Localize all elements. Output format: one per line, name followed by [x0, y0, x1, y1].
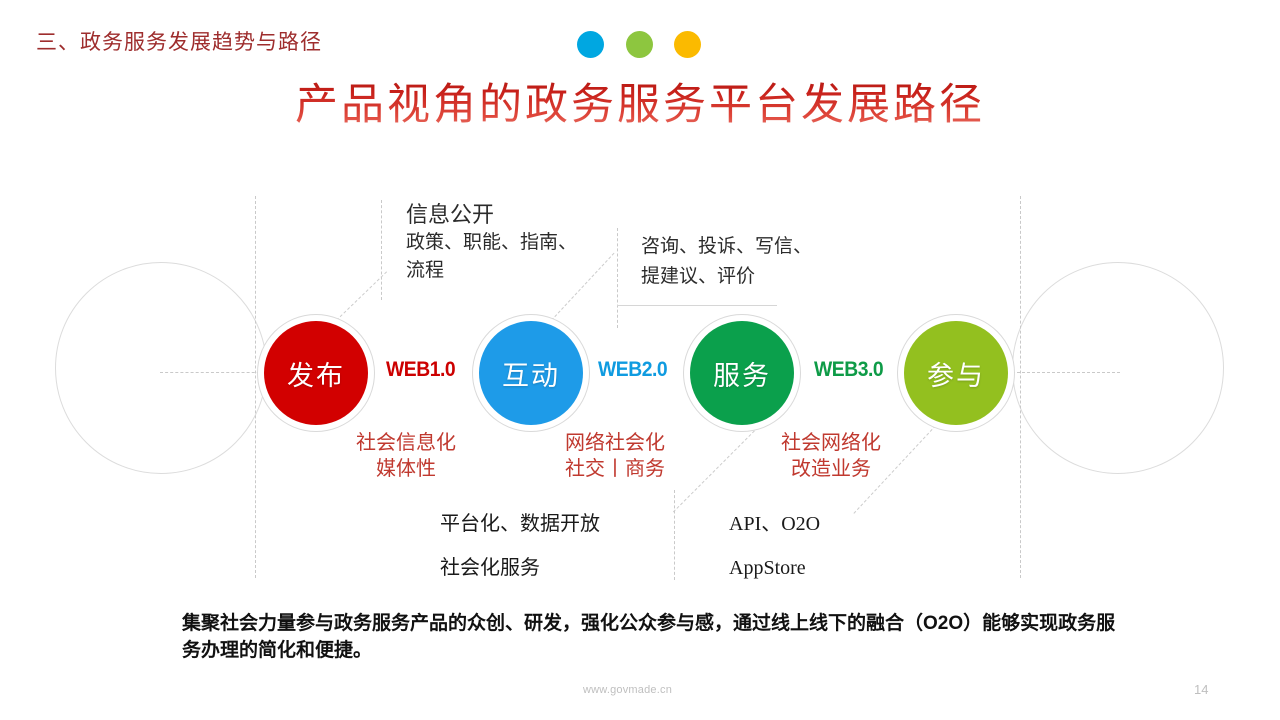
guide-hline-consult-underline	[617, 305, 777, 306]
caption-3-line-2: 改造业务	[781, 456, 881, 482]
page-number: 14	[1194, 682, 1208, 697]
node-join-label: 参与	[927, 354, 985, 393]
upper-block-line-1: 政策、职能、指南、	[406, 228, 577, 258]
orange-dot-icon	[674, 31, 701, 58]
guide-vline-left-outer	[255, 196, 256, 578]
node-publish[interactable]: 发布	[264, 321, 368, 425]
caption-3-line-1: 社会网络化	[781, 430, 881, 456]
node-service-label: 服务	[713, 354, 771, 393]
guide-diagonal-service	[673, 423, 762, 512]
node-interact[interactable]: 互动	[479, 321, 583, 425]
caption-2-line-2: 社交丨商务	[565, 456, 665, 482]
left-outline-circle	[55, 262, 267, 474]
guide-vline-right-outer	[1020, 196, 1021, 578]
stage-tag-web3: WEB3.0	[814, 358, 883, 382]
green-dot-icon	[626, 31, 653, 58]
summary-paragraph: 集聚社会力量参与政务服务产品的众创、研发，强化公众参与感，通过线上线下的融合（O…	[182, 610, 1122, 664]
stage-tag-web1: WEB1.0	[386, 358, 455, 382]
lower-block-api: API、O2O AppStore	[729, 502, 820, 590]
caption-social-informatization: 社会信息化 媒体性	[356, 430, 456, 482]
caption-2-line-1: 网络社会化	[565, 430, 665, 456]
caption-network-socialization: 网络社会化 社交丨商务	[565, 430, 665, 482]
upper-block-consultation: 咨询、投诉、写信、 提建议、评价	[641, 232, 812, 292]
guide-hline-left-axis	[160, 372, 270, 373]
guide-vline-consult-block	[617, 228, 618, 328]
slide-canvas: 三、政务服务发展趋势与路径 产品视角的政务服务平台发展路径 发布 互动 服务 参…	[0, 0, 1280, 720]
upper-block-information-disclosure: 信息公开 政策、职能、指南、 流程	[406, 200, 577, 286]
blue-dot-icon	[577, 31, 604, 58]
page-title: 产品视角的政务服务平台发展路径	[0, 70, 1280, 132]
node-publish-label: 发布	[287, 354, 345, 393]
caption-social-networking: 社会网络化 改造业务	[781, 430, 881, 482]
lower-block-2-line-1: API、O2O	[729, 502, 820, 546]
node-join[interactable]: 参与	[904, 321, 1008, 425]
guide-vline-api-block	[674, 490, 675, 580]
footer-url: www.govmade.cn	[583, 684, 672, 696]
upper-block-consult-line-1: 咨询、投诉、写信、	[641, 232, 812, 262]
upper-block-line-2: 流程	[406, 256, 577, 286]
lower-block-2-line-2: AppStore	[729, 546, 820, 590]
section-heading: 三、政务服务发展趋势与路径	[36, 26, 322, 56]
lower-block-1-line-1: 平台化、数据开放	[440, 502, 600, 546]
caption-1-line-2: 媒体性	[356, 456, 456, 482]
upper-block-heading: 信息公开	[406, 200, 577, 230]
node-interact-label: 互动	[502, 354, 560, 393]
stage-tag-web2: WEB2.0	[598, 358, 667, 382]
upper-block-consult-line-2: 提建议、评价	[641, 262, 812, 292]
right-outline-circle	[1012, 262, 1224, 474]
caption-1-line-1: 社会信息化	[356, 430, 456, 456]
lower-block-1-line-2: 社会化服务	[440, 546, 600, 590]
lower-block-platformization: 平台化、数据开放 社会化服务	[440, 502, 600, 590]
decorative-dot-group	[577, 31, 702, 59]
node-service[interactable]: 服务	[690, 321, 794, 425]
guide-diagonal-publish	[336, 271, 387, 320]
guide-hline-right-axis	[1012, 372, 1120, 373]
guide-vline-open-block	[381, 200, 382, 300]
